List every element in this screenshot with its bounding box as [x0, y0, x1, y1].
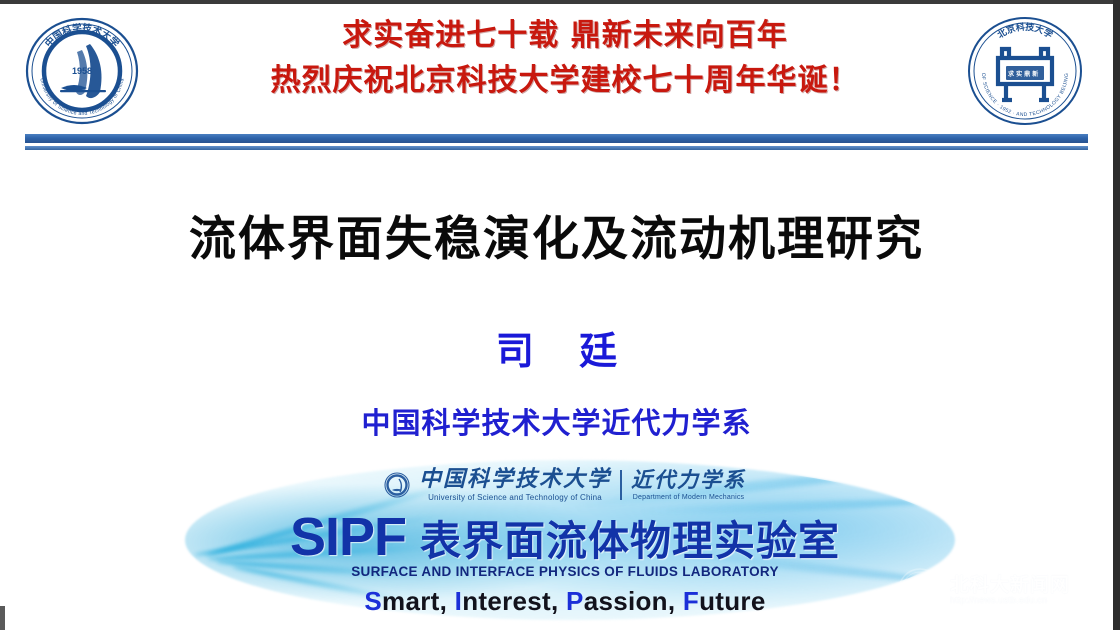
lab-logo-university-row: 中国科学技术大学 University of Science and Techn…: [150, 468, 980, 502]
header-divider-thin: [25, 146, 1088, 150]
speaker-affiliation: 中国科学技术大学近代力学系: [0, 400, 1113, 442]
slide-frame-bottom-left-mark: [0, 606, 5, 630]
lab-department-name-cn: 近代力学系: [631, 469, 746, 490]
lab-department-name-en: Department of Modern Mechanics: [633, 494, 744, 501]
tagline-initial-s: S: [364, 586, 382, 616]
svg-text:北京科技大学: 北京科技大学: [995, 21, 1055, 41]
lab-name-en: SURFACE AND INTERFACE PHYSICS OF FLUIDS …: [150, 564, 980, 579]
sipf-acronym: SIPF: [290, 510, 406, 564]
presentation-slide: 1958 中国科学技术大学 University of Science and …: [0, 0, 1120, 630]
lab-tagline: Smart, Interest, Passion, Future: [150, 586, 980, 617]
svg-text:求 实 鼎 新: 求 实 鼎 新: [1008, 70, 1038, 78]
lab-university-name-en: University of Science and Technology of …: [428, 494, 602, 502]
watermark-url: http://news.ustb.edu.cn: [950, 595, 1070, 605]
speaker-name: 司 廷: [0, 320, 1113, 375]
tagline-rest-future: uture: [699, 586, 766, 616]
slogan-line-2: 热烈庆祝北京科技大学建校七十周年华诞！: [170, 58, 960, 104]
svg-text:1958: 1958: [72, 66, 92, 76]
lab-logo-divider: [620, 470, 622, 500]
anniversary-banner: 1958 中国科学技术大学 University of Science and …: [0, 4, 1113, 130]
slide-title: 流体界面失稳演化及流动机理研究: [0, 200, 1113, 269]
lab-name-cn: 表界面流体物理实验室: [420, 521, 840, 562]
lab-logo-name-row: SIPF 表界面流体物理实验室: [150, 510, 980, 564]
news-site-watermark: 北科大新闻网 http://news.ustb.edu.cn: [898, 562, 1103, 618]
tagline-rest-interest: nterest,: [462, 586, 566, 616]
ustc-small-seal-icon: [384, 472, 410, 498]
slogan-line-1: 求实奋进七十载 鼎新未来向百年: [170, 14, 960, 58]
lab-university-name-cn: 中国科学技术大学: [419, 468, 611, 490]
watermark-text-cn: 北科大新闻网: [950, 575, 1070, 596]
ustb-watermark-seal-icon: [898, 568, 942, 612]
tagline-initial-p: P: [566, 586, 584, 616]
slide-frame-right-edge: [1113, 0, 1120, 630]
ustc-emblem-icon: 1958 中国科学技术大学 University of Science and …: [20, 16, 144, 126]
tagline-rest-smart: mart,: [382, 586, 455, 616]
sipf-lab-logo: 中国科学技术大学 University of Science and Techn…: [150, 452, 980, 630]
anniversary-slogan: 求实奋进七十载 鼎新未来向百年 热烈庆祝北京科技大学建校七十周年华诞！: [170, 14, 960, 104]
header-divider-thick: [25, 134, 1088, 143]
tagline-rest-passion: assion,: [584, 586, 683, 616]
tagline-initial-f: F: [683, 586, 699, 616]
ustb-emblem-icon: 求 实 鼎 新 北京科技大学 OF SCIENCE · 1952 · AND T…: [962, 14, 1088, 128]
